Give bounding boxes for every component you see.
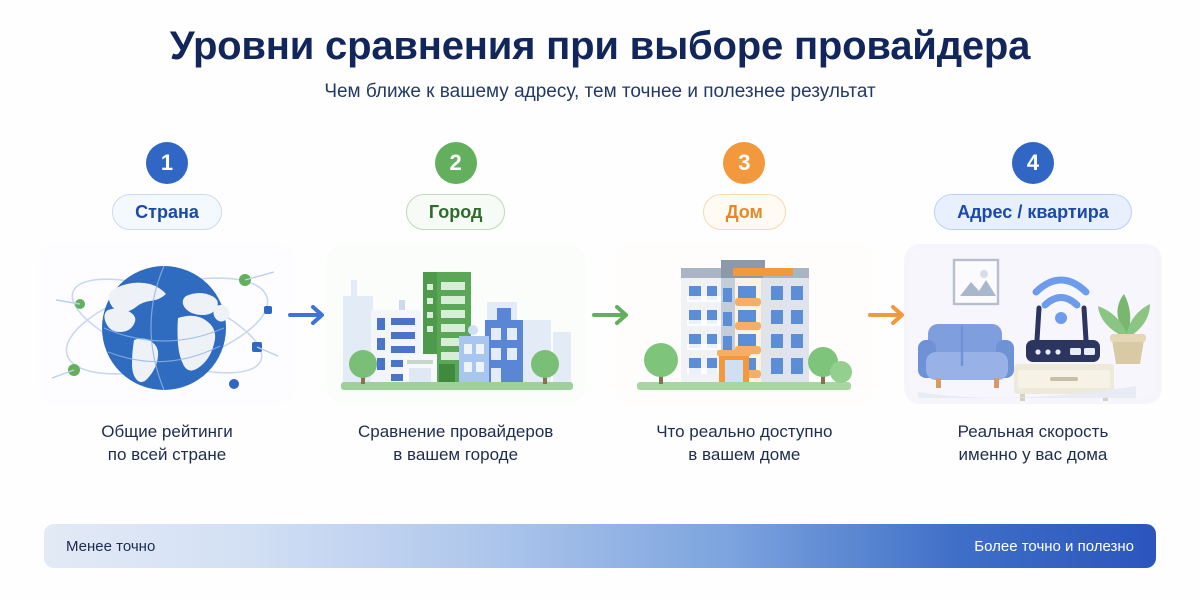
scale-left-label: Менее точно [66,538,155,555]
apartment-building-icon [615,244,873,404]
arrow-city-to-house [590,300,636,330]
step-city: 2 Город [327,142,585,467]
caption-address-line1: Реальная скорость [958,420,1109,443]
caption-address-line2: именно у вас дома [958,443,1109,466]
caption-house-line1: Что реально доступно [656,420,832,443]
caption-address: Реальная скорость именно у вас дома [958,420,1109,467]
caption-city: Сравнение провайдеров в вашем городе [358,420,553,467]
step-address: 4 Адрес / квартира [904,142,1162,467]
step-country: 1 Страна [38,142,296,467]
step-badge-2: 2 [435,142,477,184]
header: Уровни сравнения при выборе провайдера Ч… [0,0,1200,104]
arrow-country-to-city [286,300,332,330]
accuracy-scale-bar: Менее точно Более точно и полезно [44,524,1156,568]
city-illustration [327,244,585,404]
step-house: 3 Дом [615,142,873,467]
step-pill-city[interactable]: Город [406,194,505,230]
caption-country: Общие рейтинги по всей стране [101,420,232,467]
infographic-page: Уровни сравнения при выборе провайдера Ч… [0,0,1200,600]
globe-icon [38,244,296,404]
caption-house-line2: в вашем доме [656,443,832,466]
picture-frame-icon [954,260,998,304]
caption-house: Что реально доступно в вашем доме [656,420,832,467]
cityscape-icon [327,244,585,404]
scale-right-label: Более точно и полезно [974,538,1134,555]
page-title: Уровни сравнения при выборе провайдера [0,24,1200,69]
caption-city-line1: Сравнение провайдеров [358,420,553,443]
page-subtitle: Чем ближе к вашему адресу, тем точнее и … [0,81,1200,104]
step-pill-house[interactable]: Дом [703,194,786,230]
caption-country-line1: Общие рейтинги [101,420,232,443]
step-badge-4: 4 [1012,142,1054,184]
globe-illustration [38,244,296,404]
caption-country-line2: по всей стране [101,443,232,466]
living-room-illustration [904,244,1162,404]
sofa-icon [918,324,1014,388]
step-badge-3: 3 [723,142,765,184]
apartment-illustration [615,244,873,404]
step-pill-address[interactable]: Адрес / квартира [934,194,1132,230]
step-badge-1: 1 [146,142,188,184]
living-room-icon [904,244,1162,404]
step-pill-country[interactable]: Страна [112,194,222,230]
arrow-house-to-address [866,300,912,330]
caption-city-line2: в вашем городе [358,443,553,466]
